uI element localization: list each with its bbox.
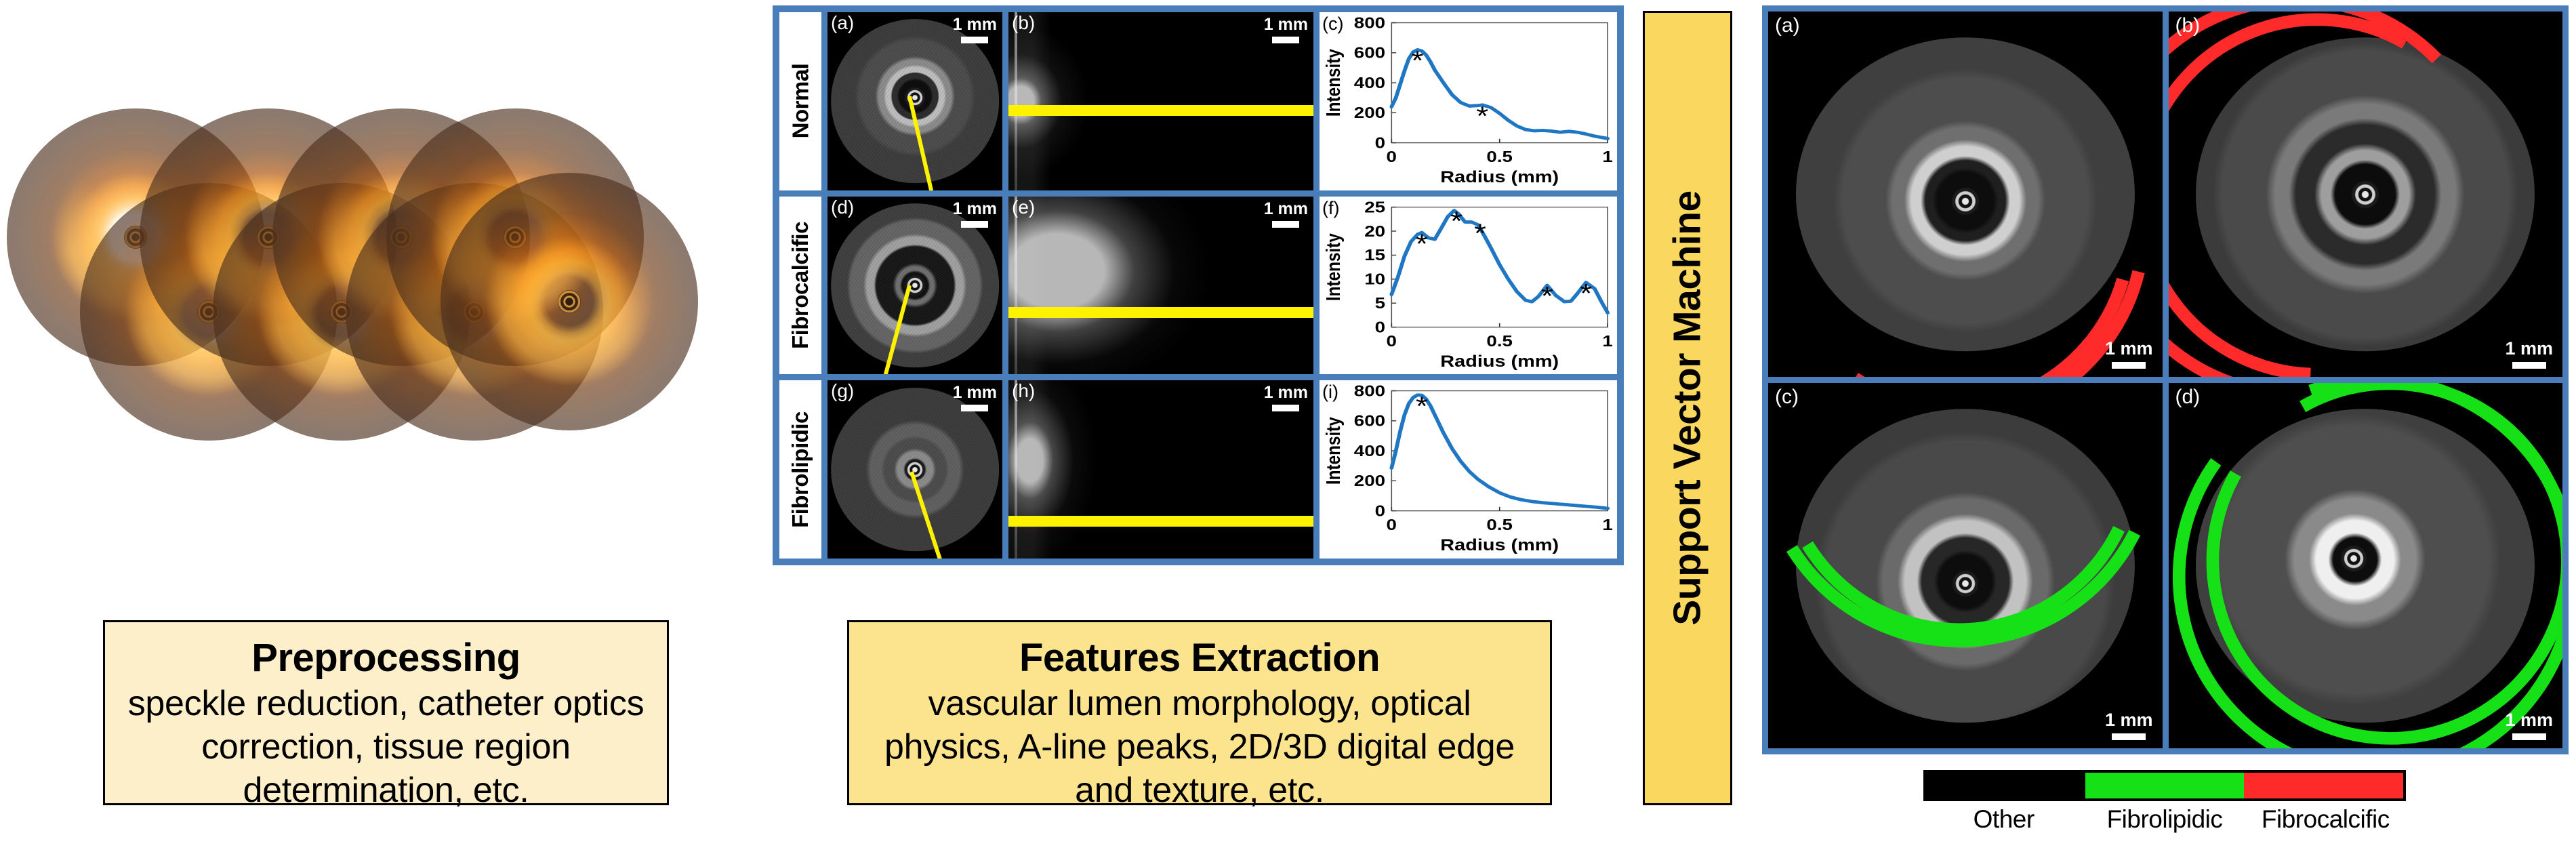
panel-tag: (e) — [1012, 197, 1035, 218]
scale-bar-line — [961, 221, 988, 228]
row-label-text: Fibrocalcific — [788, 222, 813, 349]
preprocessing-callout-box: Preprocessing speckle reduction, cathete… — [103, 620, 669, 805]
svg-text:600: 600 — [1354, 45, 1385, 62]
svg-text:200: 200 — [1354, 104, 1385, 122]
preprocessing-body: speckle reduction, catheter optics corre… — [105, 683, 667, 813]
scale-bar-line — [2112, 733, 2146, 740]
scale-bar-line — [2112, 362, 2146, 369]
svg-text:400: 400 — [1354, 443, 1385, 460]
scale-bar-result-d: 1 mm — [2505, 711, 2553, 740]
svg-text:*: * — [1474, 218, 1486, 248]
oct-frame — [441, 173, 698, 430]
result-panel-d: (d) 1 mm — [2169, 383, 2563, 748]
panel-tag: (h) — [1012, 381, 1035, 402]
fibrocalcific-overlay-arcs — [1768, 12, 2163, 377]
result-panel-b: (b) 1 mm — [2169, 12, 2563, 377]
a-line-profile-plot-f: (f) 051015202500.51Radius (mm)Intensity*… — [1320, 197, 1617, 375]
scale-bar-b: 1 mm — [1264, 16, 1308, 43]
legend-label-other: Other — [1923, 805, 2084, 834]
cross-section-image-d: (d) 1 mm — [827, 197, 1002, 375]
a-line-band — [1008, 105, 1313, 116]
svg-text:Intensity: Intensity — [1322, 417, 1344, 485]
row-label-fibrocalcific: Fibrocalcific — [779, 197, 821, 375]
classification-results-grid: (a) 1 mm (b) 1 mm — [1762, 5, 2569, 754]
panel-tag: (a) — [1775, 14, 1800, 37]
svg-text:0: 0 — [1375, 319, 1385, 336]
scale-bar-e: 1 mm — [1264, 201, 1308, 228]
svg-text:0: 0 — [1387, 148, 1397, 166]
panel-tag: (b) — [1012, 13, 1035, 34]
svg-text:*: * — [1450, 207, 1463, 237]
a-line-profile-plot-c: (c) 020040060080000.51Radius (mm)Intensi… — [1320, 12, 1617, 190]
cross-section-image-g: (g) 1 mm — [827, 380, 1002, 559]
scale-bar-line — [1272, 221, 1299, 228]
fibrocalcific-overlay-arcs — [2169, 12, 2563, 377]
scale-bar-line — [1272, 37, 1299, 43]
scale-bar-a: 1 mm — [953, 16, 997, 43]
row-label-text: Normal — [788, 64, 813, 139]
svg-text:Radius (mm): Radius (mm) — [1440, 535, 1559, 554]
svg-text:20: 20 — [1364, 222, 1385, 240]
svg-text:800: 800 — [1354, 383, 1385, 401]
result-panel-c: (c) 1 mm — [1768, 383, 2163, 748]
feature-row-normal: Normal (a) 1 mm (b) 1 mm (c) — [779, 12, 1617, 190]
svg-text:*: * — [1412, 46, 1424, 76]
panel-tag: (d) — [831, 197, 854, 218]
longitudinal-image-h: (h) 1 mm — [1008, 380, 1313, 559]
feature-row-fibrocalcific: Fibrocalcific (d) 1 mm (e) 1 mm (f) — [779, 197, 1617, 375]
fibrolipidic-overlay-arcs — [1768, 383, 2163, 748]
svg-text:200: 200 — [1354, 472, 1385, 490]
svg-text:Intensity: Intensity — [1322, 49, 1344, 117]
svg-text:800: 800 — [1354, 14, 1385, 32]
legend-label-fibrocalcific: Fibrocalcific — [2245, 805, 2406, 834]
results-row-top: (a) 1 mm (b) 1 mm — [1768, 12, 2562, 377]
features-extraction-grid: Normal (a) 1 mm (b) 1 mm (c) — [773, 5, 1624, 565]
svg-text:5: 5 — [1375, 295, 1385, 312]
svg-text:0: 0 — [1387, 516, 1397, 534]
features-extraction-callout-box: Features Extraction vascular lumen morph… — [847, 620, 1552, 805]
features-body: vascular lumen morphology, optical physi… — [849, 683, 1550, 813]
longitudinal-image-e: (e) 1 mm — [1008, 197, 1313, 375]
fibrolipidic-overlay-arcs — [2169, 383, 2563, 748]
legend-segment-fibrocalcific — [2244, 773, 2403, 798]
row-label-text: Fibrolipidic — [788, 411, 813, 528]
panel-tag: (g) — [831, 381, 854, 402]
scale-bar-line — [2512, 362, 2546, 369]
scale-bar-line — [2512, 733, 2546, 740]
svg-text:*: * — [1541, 281, 1553, 311]
features-title: Features Extraction — [1019, 637, 1380, 678]
svg-text:600: 600 — [1354, 413, 1385, 430]
legend-label-fibrolipidic: Fibrolipidic — [2084, 805, 2245, 834]
intensity-vs-radius-chart: 020040060080000.51Radius (mm)Intensity* — [1320, 380, 1617, 559]
support-vector-machine-box: Support Vector Machine — [1643, 11, 1732, 805]
longitudinal-image-b: (b) 1 mm — [1008, 12, 1313, 190]
svg-text:1: 1 — [1602, 332, 1612, 350]
lumen-edge — [1015, 380, 1017, 559]
a-line-band — [1008, 307, 1313, 318]
scale-bar-result-b: 1 mm — [2505, 340, 2553, 369]
svg-text:15: 15 — [1364, 247, 1385, 264]
cross-section-image-a: (a) 1 mm — [827, 12, 1002, 190]
classification-legend: Other Fibrolipidic Fibrocalcific — [1923, 770, 2406, 846]
legend-segment-fibrolipidic — [2085, 773, 2245, 798]
svg-text:*: * — [1416, 229, 1428, 259]
scale-bar-line — [961, 37, 988, 43]
svg-text:0: 0 — [1375, 503, 1385, 521]
svg-text:*: * — [1416, 392, 1428, 422]
legend-segment-other — [1926, 773, 2085, 798]
svg-text:25: 25 — [1364, 199, 1385, 216]
svg-text:Intensity: Intensity — [1322, 233, 1344, 301]
svg-text:10: 10 — [1364, 270, 1385, 288]
results-row-bottom: (c) 1 mm (d) 1 mm — [1768, 383, 2562, 748]
panel-tag: (d) — [2175, 386, 2201, 409]
scale-bar-h: 1 mm — [1264, 384, 1308, 411]
lumen-edge — [1015, 197, 1017, 375]
scale-bar-result-a: 1 mm — [2105, 340, 2153, 369]
panel-tag: (c) — [1775, 386, 1799, 409]
svg-text:0: 0 — [1387, 332, 1397, 350]
svg-text:Radius (mm): Radius (mm) — [1440, 352, 1559, 370]
row-label-normal: Normal — [779, 12, 821, 190]
feature-row-fibrolipidic: Fibrolipidic (g) 1 mm (h) 1 mm (i) — [779, 380, 1617, 559]
svg-text:1: 1 — [1602, 148, 1612, 166]
svg-text:0: 0 — [1375, 134, 1385, 152]
svg-text:Radius (mm): Radius (mm) — [1440, 167, 1559, 186]
svg-text:0.5: 0.5 — [1486, 516, 1513, 534]
scale-bar-g: 1 mm — [953, 384, 997, 411]
a-line-band — [1008, 516, 1313, 527]
svg-text:400: 400 — [1354, 75, 1385, 92]
row-label-fibrolipidic: Fibrolipidic — [779, 380, 821, 559]
svg-text:*: * — [1476, 102, 1488, 131]
svg-text:*: * — [1580, 279, 1592, 308]
scale-bar-line — [961, 405, 988, 411]
preprocessing-title: Preprocessing — [251, 637, 520, 678]
panel-tag: (a) — [831, 13, 854, 34]
scale-bar-d: 1 mm — [953, 201, 997, 228]
stacked-oct-frames-image — [7, 37, 637, 580]
legend-color-bar — [1923, 770, 2406, 801]
lumen-edge — [1015, 12, 1017, 190]
panel-tag: (b) — [2175, 14, 2201, 37]
svg-text:0.5: 0.5 — [1486, 332, 1513, 350]
scale-bar-line — [1272, 405, 1299, 411]
svg-text:1: 1 — [1602, 516, 1612, 534]
a-line-profile-plot-i: (i) 020040060080000.51Radius (mm)Intensi… — [1320, 380, 1617, 559]
legend-labels: Other Fibrolipidic Fibrocalcific — [1923, 805, 2406, 834]
intensity-vs-radius-chart: 020040060080000.51Radius (mm)Intensity** — [1320, 12, 1617, 190]
result-panel-a: (a) 1 mm — [1768, 12, 2163, 377]
intensity-vs-radius-chart: 051015202500.51Radius (mm)Intensity***** — [1320, 197, 1617, 375]
svg-text:0.5: 0.5 — [1486, 148, 1513, 166]
svm-label: Support Vector Machine — [1665, 190, 1710, 625]
scale-bar-result-c: 1 mm — [2105, 711, 2153, 740]
